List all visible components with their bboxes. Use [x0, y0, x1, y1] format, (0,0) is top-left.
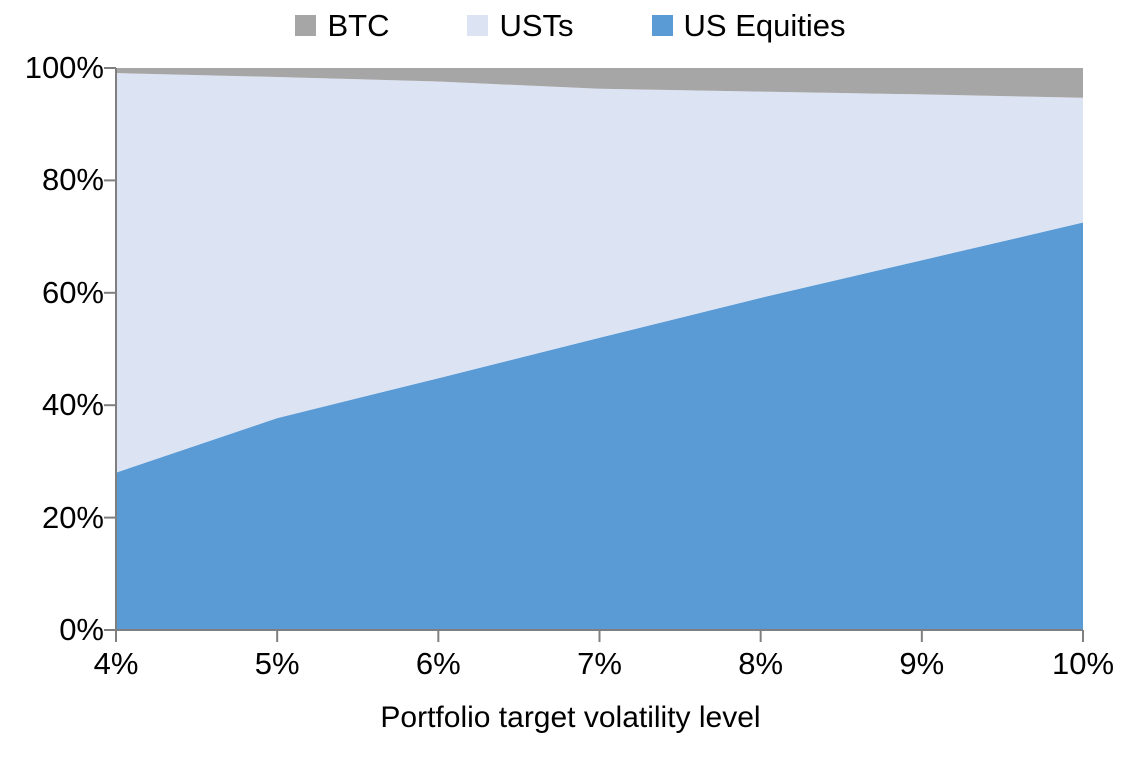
y-axis-tick-label: 100%	[0, 52, 104, 83]
stacked-area-chart: BTC USTs US Equities 0%20%40%60%80%100% …	[0, 0, 1141, 763]
x-axis-tick-label: 6%	[416, 645, 461, 683]
x-axis-tick-label: 10%	[1052, 645, 1114, 683]
x-axis-tick-label: 5%	[255, 645, 300, 683]
y-axis-tick-label: 20%	[0, 502, 104, 533]
x-axis-title: Portfolio target volatility level	[0, 700, 1141, 736]
x-axis-tick-label: 9%	[899, 645, 944, 683]
y-axis-tick-label: 0%	[0, 614, 104, 645]
x-axis-tick-labels: 4%5%6%7%8%9%10%	[0, 645, 1141, 689]
x-axis-tick-label: 7%	[577, 645, 622, 683]
series-layer	[116, 68, 1083, 630]
y-axis-tick-label: 60%	[0, 277, 104, 308]
y-axis-tick-label: 40%	[0, 389, 104, 420]
x-axis-tick-label: 8%	[738, 645, 783, 683]
y-axis-tick-label: 80%	[0, 164, 104, 195]
x-axis-tick-label: 4%	[94, 645, 139, 683]
